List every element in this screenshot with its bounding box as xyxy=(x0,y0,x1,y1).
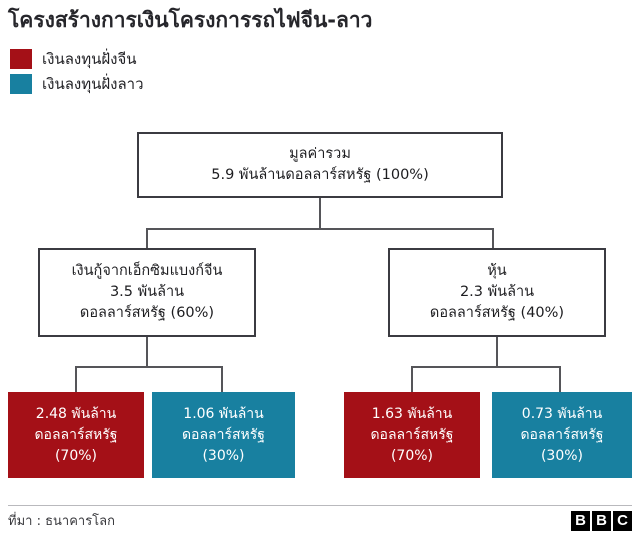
connector-loan-stem xyxy=(146,337,148,367)
bbc-logo-b2: B xyxy=(592,511,611,531)
infographic-canvas: โครงสร้างการเงินโครงการรถไฟจีน-ลาว เงินล… xyxy=(0,0,640,537)
source-note: ที่มา : ธนาคารโลก xyxy=(8,512,115,532)
node-loan-laos-line1: 1.06 พันล้าน xyxy=(183,404,263,425)
laos-swatch xyxy=(10,74,32,94)
node-loan-line3: ดอลลาร์สหรัฐ (60%) xyxy=(80,303,214,324)
node-loan-laos-line2: ดอลลาร์สหรัฐ xyxy=(182,425,265,446)
node-equity-laos-line3: (30%) xyxy=(541,446,583,467)
node-loan-line1: เงินกู้จากเอ็กซิมแบงก์จีน xyxy=(72,261,223,282)
connector-to-loan xyxy=(146,228,148,248)
legend-item-china: เงินลงทุนฝั่งจีน xyxy=(10,48,144,70)
node-total-value: มูลค่ารวม 5.9 พันล้านดอลลาร์สหรัฐ (100%) xyxy=(137,132,503,198)
connector-level2-bar xyxy=(146,228,494,230)
legend: เงินลงทุนฝั่งจีน เงินลงทุนฝั่งลาว xyxy=(10,48,144,98)
node-loan-laos-line3: (30%) xyxy=(202,446,244,467)
bbc-logo-b1: B xyxy=(571,511,590,531)
node-equity-line3: ดอลลาร์สหรัฐ (40%) xyxy=(430,303,564,324)
connector-to-equity-laos xyxy=(559,366,561,392)
node-loan-china-share: 2.48 พันล้าน ดอลลาร์สหรัฐ (70%) xyxy=(8,392,144,478)
node-equity-china-line1: 1.63 พันล้าน xyxy=(372,404,452,425)
footer-divider xyxy=(8,505,632,506)
node-equity-laos-share: 0.73 พันล้าน ดอลลาร์สหรัฐ (30%) xyxy=(492,392,632,478)
node-equity-line1: หุ้น xyxy=(487,261,506,282)
node-equity: หุ้น 2.3 พันล้าน ดอลลาร์สหรัฐ (40%) xyxy=(388,248,606,337)
node-loan-china-line3: (70%) xyxy=(55,446,97,467)
node-loan-china-line2: ดอลลาร์สหรัฐ xyxy=(34,425,117,446)
legend-label-china: เงินลงทุนฝั่งจีน xyxy=(42,49,137,69)
node-equity-line2: 2.3 พันล้าน xyxy=(460,282,534,303)
connector-to-loan-china xyxy=(75,366,77,392)
connector-equity-bar xyxy=(411,366,561,368)
node-equity-china-line3: (70%) xyxy=(391,446,433,467)
china-swatch xyxy=(10,49,32,69)
node-loan-line2: 3.5 พันล้าน xyxy=(110,282,184,303)
node-equity-laos-line2: ดอลลาร์สหรัฐ xyxy=(520,425,603,446)
connector-loan-bar xyxy=(75,366,223,368)
node-total-line1: มูลค่ารวม xyxy=(289,144,351,165)
node-equity-china-share: 1.63 พันล้าน ดอลลาร์สหรัฐ (70%) xyxy=(344,392,480,478)
node-total-line2: 5.9 พันล้านดอลลาร์สหรัฐ (100%) xyxy=(211,165,428,186)
connector-to-equity xyxy=(492,228,494,248)
connector-equity-stem xyxy=(496,337,498,367)
node-loan-laos-share: 1.06 พันล้าน ดอลลาร์สหรัฐ (30%) xyxy=(152,392,295,478)
node-exim-loan: เงินกู้จากเอ็กซิมแบงก์จีน 3.5 พันล้าน ดอ… xyxy=(38,248,256,337)
node-loan-china-line1: 2.48 พันล้าน xyxy=(36,404,116,425)
page-title: โครงสร้างการเงินโครงการรถไฟจีน-ลาว xyxy=(8,6,372,34)
node-equity-laos-line1: 0.73 พันล้าน xyxy=(522,404,602,425)
legend-item-laos: เงินลงทุนฝั่งลาว xyxy=(10,73,144,95)
bbc-logo: B B C xyxy=(571,511,632,531)
connector-to-equity-china xyxy=(411,366,413,392)
node-equity-china-line2: ดอลลาร์สหรัฐ xyxy=(370,425,453,446)
legend-label-laos: เงินลงทุนฝั่งลาว xyxy=(42,74,144,94)
connector-total-stem xyxy=(319,198,321,229)
bbc-logo-c: C xyxy=(613,511,632,531)
connector-to-loan-laos xyxy=(221,366,223,392)
